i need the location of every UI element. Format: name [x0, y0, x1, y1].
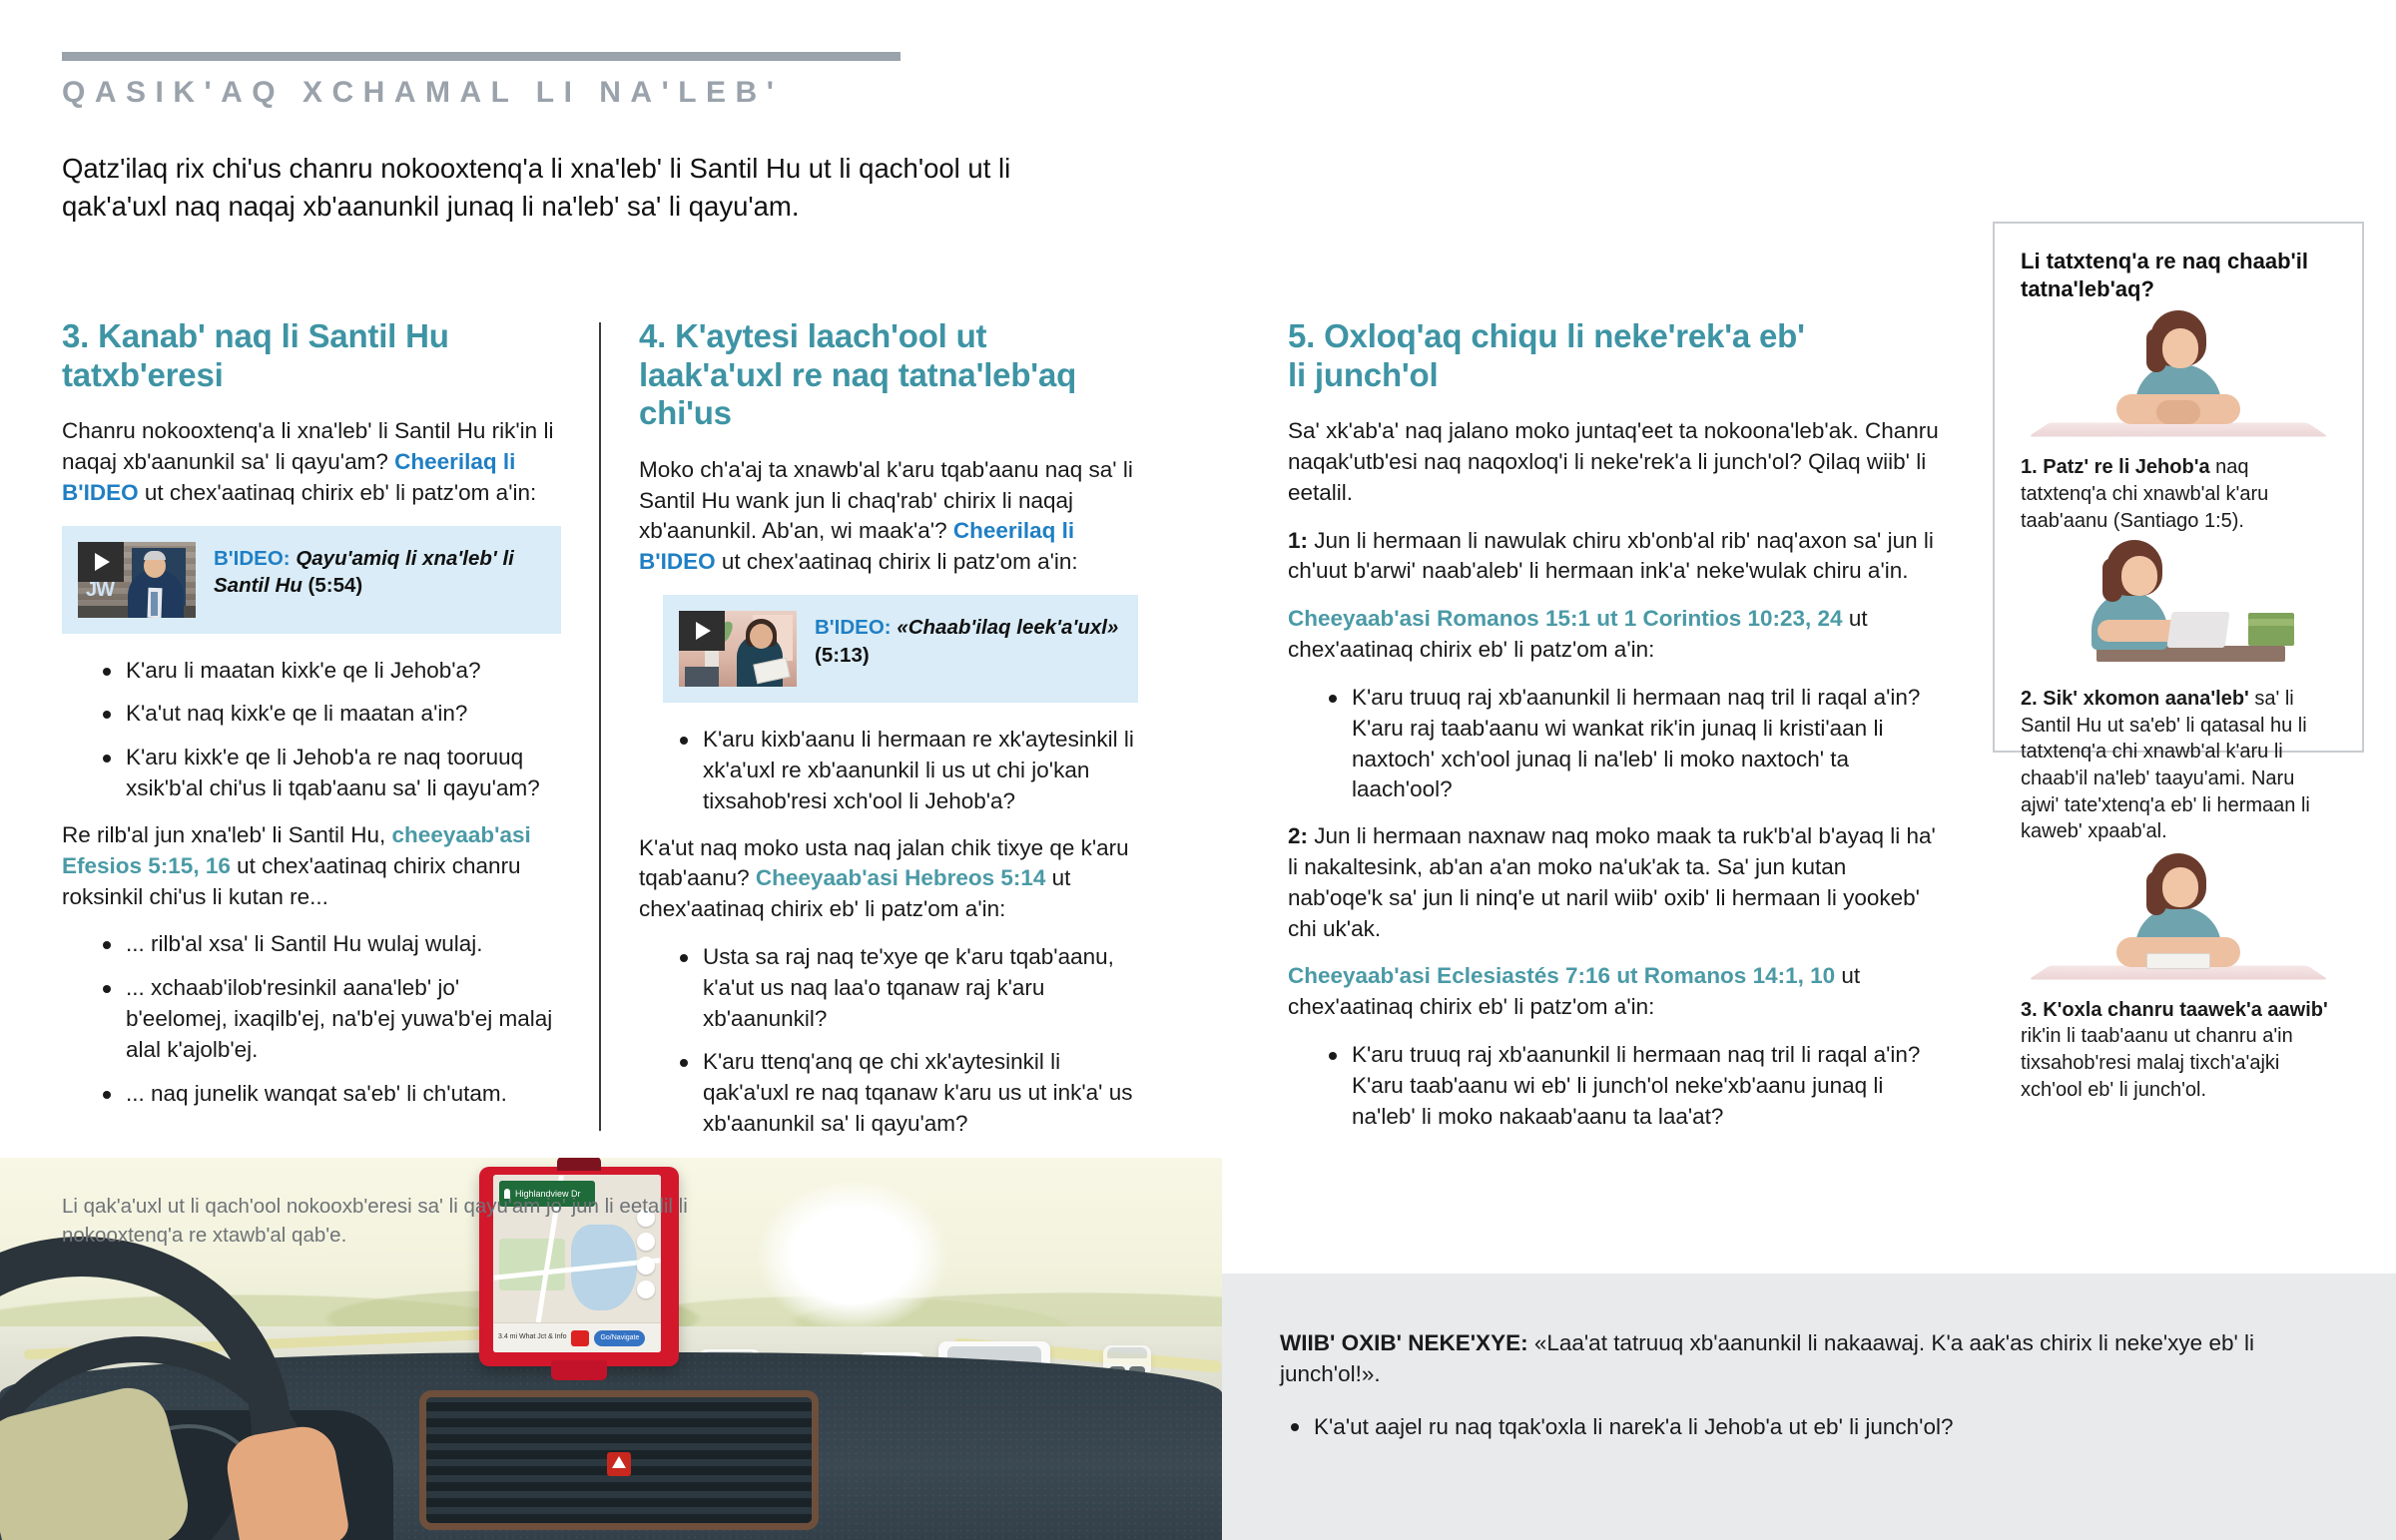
case-1-text: Jun li hermaan li nawulak chiru xb'onb'a… [1288, 528, 1934, 584]
woman-praying-illustration [2021, 316, 2336, 444]
header-rule [62, 52, 900, 61]
list-item: K'aru truuq raj xb'aanunkil li hermaan n… [1318, 1040, 1947, 1132]
section-4-scripture-link[interactable]: Cheeyaab'asi Hebreos 5:14 [756, 865, 1046, 890]
sidebar-item-1-text: 1. Patz' re li Jehob'a naq tatxtenq'a ch… [2021, 454, 2336, 534]
list-item: K'a'ut aajel ru naq tqak'oxla li narek'a… [1280, 1411, 2278, 1442]
section-3-secondary-list: ... rilb'al xsa' li Santil Hu wulaj wula… [92, 929, 561, 1109]
video-label-4: B'IDEO: [815, 616, 892, 639]
video-duration-4: (5:13) [815, 644, 870, 667]
woman-thinking-illustration [2021, 859, 2336, 987]
play-icon[interactable] [78, 542, 124, 582]
section-4-paragraph-2: K'a'ut naq moko usta naq jalan chik tixy… [639, 833, 1138, 925]
case-2-text: Jun li hermaan naxnaw naq moko maak ta r… [1288, 823, 1936, 940]
video-caption-3: B'IDEO: Qayu'amiq li xna'leb' li Santil … [214, 542, 543, 600]
list-item: ... rilb'al xsa' li Santil Hu wulaj wula… [92, 929, 561, 960]
video-box-3[interactable]: JW B'IDEO: Qayu'amiq li xna'leb' li Sant… [62, 526, 561, 634]
section-4-intro-post: ut chex'aatinaq chirix li patz'om a'in: [716, 549, 1078, 574]
gps-status-text: 3.4 mi What Jct & Info [498, 1333, 566, 1341]
page-title: QASIK'AQ XCHAMAL LI NA'LEB' [62, 76, 783, 110]
section-3-intro: Chanru nokooxtenq'a li xna'leb' li Santi… [62, 416, 561, 508]
sidebar-item-2-text: 2. Sik' xkomon aana'leb' sa' li Santil H… [2021, 686, 2336, 845]
intro-paragraph: Qatz'ilaq rix chi'us chanru nokooxtenq'a… [62, 150, 1070, 226]
gps-stop-button[interactable] [571, 1330, 589, 1346]
section-4-heading: 4. K'aytesi laach'ool ut laak'a'uxl re n… [639, 317, 1138, 433]
sidebar-item-1: 1. Patz' re li Jehob'a naq tatxtenq'a ch… [2021, 316, 2336, 534]
sidebar-panel: Li tatxtenq'a re naq chaab'il tatna'leb'… [1993, 222, 2364, 753]
sidebar-item-3-bold: 3. K'oxla chanru taawek'a aawib' [2021, 999, 2328, 1021]
list-item: K'aru ttenq'anq qe chi xk'aytesinkil li … [669, 1047, 1138, 1139]
case-2-number: 2: [1288, 823, 1308, 848]
list-item: ... naq junelik wanqat sa'eb' li ch'utam… [92, 1079, 561, 1110]
video-title-4: «Chaab'ilaq leek'a'uxl» [897, 616, 1118, 639]
section-3-intro-post: ut chex'aatinaq chirix eb' li patz'om a'… [139, 480, 537, 505]
list-item: K'aru kixb'aanu li hermaan re xk'aytesin… [669, 725, 1138, 816]
photo-caption: Li qak'a'uxl ut li qach'ool nokooxb'eres… [62, 1192, 701, 1250]
section-5-case-1-list: K'aru truuq raj xb'aanunkil li hermaan n… [1318, 683, 1947, 805]
sidebar-item-2-bold: 2. Sik' xkomon aana'leb' [2021, 688, 2249, 710]
list-item: K'aru kixk'e qe li Jehob'a re naq tooruu… [92, 743, 561, 804]
section-5: 5. Oxloq'aq chiqu li neke'rek'a eb' li j… [1288, 317, 1947, 1148]
section-5-case-1: 1: Jun li hermaan li nawulak chiru xb'on… [1288, 526, 1947, 588]
band-question-list: K'a'ut aajel ru naq tqak'oxla li narek'a… [1280, 1411, 2278, 1442]
list-item: ... xchaab'ilob'resinkil aana'leb' jo' b… [92, 973, 561, 1065]
section-4: 4. K'aytesi laach'ool ut laak'a'uxl re n… [639, 317, 1138, 1156]
section-5-case-1-reference: Cheeyaab'asi Romanos 15:1 ut 1 Corintios… [1288, 604, 1947, 666]
case-1-number: 1: [1288, 528, 1308, 553]
section-5-case-2: 2: Jun li hermaan naxnaw naq moko maak t… [1288, 821, 1947, 944]
sidebar-item-2-rest: sa' li Santil Hu ut sa'eb' li qatasal hu… [2021, 688, 2310, 842]
section-3-heading: 3. Kanab' naq li Santil Hu tatxb'eresi [62, 317, 561, 394]
column-divider-3-4 [599, 322, 601, 1131]
section-4-intro: Moko ch'a'aj ta xnawb'al k'aru tqab'aanu… [639, 455, 1138, 578]
video-thumbnail-4[interactable] [679, 611, 797, 687]
list-item: K'aru li maatan kixk'e qe li Jehob'a? [92, 656, 561, 687]
gps-icon-4[interactable] [637, 1281, 655, 1298]
section-5-case-2-list: K'aru truuq raj xb'aanunkil li hermaan n… [1318, 1040, 1947, 1132]
page-root: QASIK'AQ XCHAMAL LI NA'LEB' Qatz'ilaq ri… [0, 0, 2396, 1540]
gps-bottom-bar: 3.4 mi What Jct & Info Go/Navigate [493, 1322, 661, 1352]
list-item: Usta sa raj naq te'xye qe k'aru tqab'aan… [669, 942, 1138, 1034]
video-thumbnail-3[interactable]: JW [78, 542, 196, 618]
video-caption-4: B'IDEO: «Chaab'ilaq leek'a'uxl» (5:13) [815, 611, 1118, 669]
bottom-band: WIIB' OXIB' NEKE'XYE: «Laa'at tatruuq xb… [1222, 1274, 2396, 1540]
section-4-question-list: K'aru kixb'aanu li hermaan re xk'aytesin… [669, 725, 1138, 816]
air-vent [419, 1390, 819, 1530]
section-4-secondary-list: Usta sa raj naq te'xye qe k'aru tqab'aan… [669, 942, 1138, 1140]
section-3-paragraph-2: Re rilb'al jun xna'leb' li Santil Hu, ch… [62, 820, 561, 912]
sidebar-item-3-text: 3. K'oxla chanru taawek'a aawib' rik'in … [2021, 997, 2336, 1103]
gps-navigate-button[interactable]: Go/Navigate [594, 1330, 645, 1346]
sidebar-item-3-rest: rik'in li taab'aanu ut chanru a'in tixsa… [2021, 1025, 2293, 1100]
play-icon[interactable] [679, 611, 725, 651]
case-2-scripture-link[interactable]: Cheeyaab'asi Eclesiastés 7:16 ut Romanos… [1288, 963, 1835, 988]
sidebar-item-2: 2. Sik' xkomon aana'leb' sa' li Santil H… [2021, 548, 2336, 845]
band-title: WIIB' OXIB' NEKE'XYE: [1280, 1330, 1528, 1355]
section-5-case-2-reference: Cheeyaab'asi Eclesiastés 7:16 ut Romanos… [1288, 961, 1947, 1023]
list-item: K'a'ut naq kixk'e qe li maatan a'in? [92, 699, 561, 730]
sidebar-item-3: 3. K'oxla chanru taawek'a aawib' rik'in … [2021, 859, 2336, 1103]
list-item: K'aru truuq raj xb'aanunkil li hermaan n… [1318, 683, 1947, 805]
band-paragraph: WIIB' OXIB' NEKE'XYE: «Laa'at tatruuq xb… [1280, 1327, 2278, 1389]
sidebar-title: Li tatxtenq'a re naq chaab'il tatna'leb'… [2021, 248, 2336, 302]
gps-icon-3[interactable] [637, 1257, 655, 1275]
section-5-intro: Sa' xk'ab'a' naq jalano moko juntaq'eet … [1288, 416, 1947, 508]
hazard-light-icon[interactable] [607, 1452, 631, 1476]
section-3: 3. Kanab' naq li Santil Hu tatxb'eresi C… [62, 317, 561, 1125]
woman-laptop-illustration [2021, 548, 2336, 676]
video-box-4[interactable]: B'IDEO: «Chaab'ilaq leek'a'uxl» (5:13) [663, 595, 1138, 703]
section-5-heading: 5. Oxloq'aq chiqu li neke'rek'a eb' li j… [1288, 317, 1807, 394]
sidebar-item-1-bold: 1. Patz' re li Jehob'a [2021, 456, 2210, 478]
section-3-question-list: K'aru li maatan kixk'e qe li Jehob'a? K'… [92, 656, 561, 804]
section-3-para2-pre: Re rilb'al jun xna'leb' li Santil Hu, [62, 822, 392, 847]
video-label-3: B'IDEO: [214, 547, 291, 570]
video-duration-3: (5:54) [308, 574, 363, 597]
case-1-scripture-link[interactable]: Cheeyaab'asi Romanos 15:1 ut 1 Corintios… [1288, 606, 1843, 631]
